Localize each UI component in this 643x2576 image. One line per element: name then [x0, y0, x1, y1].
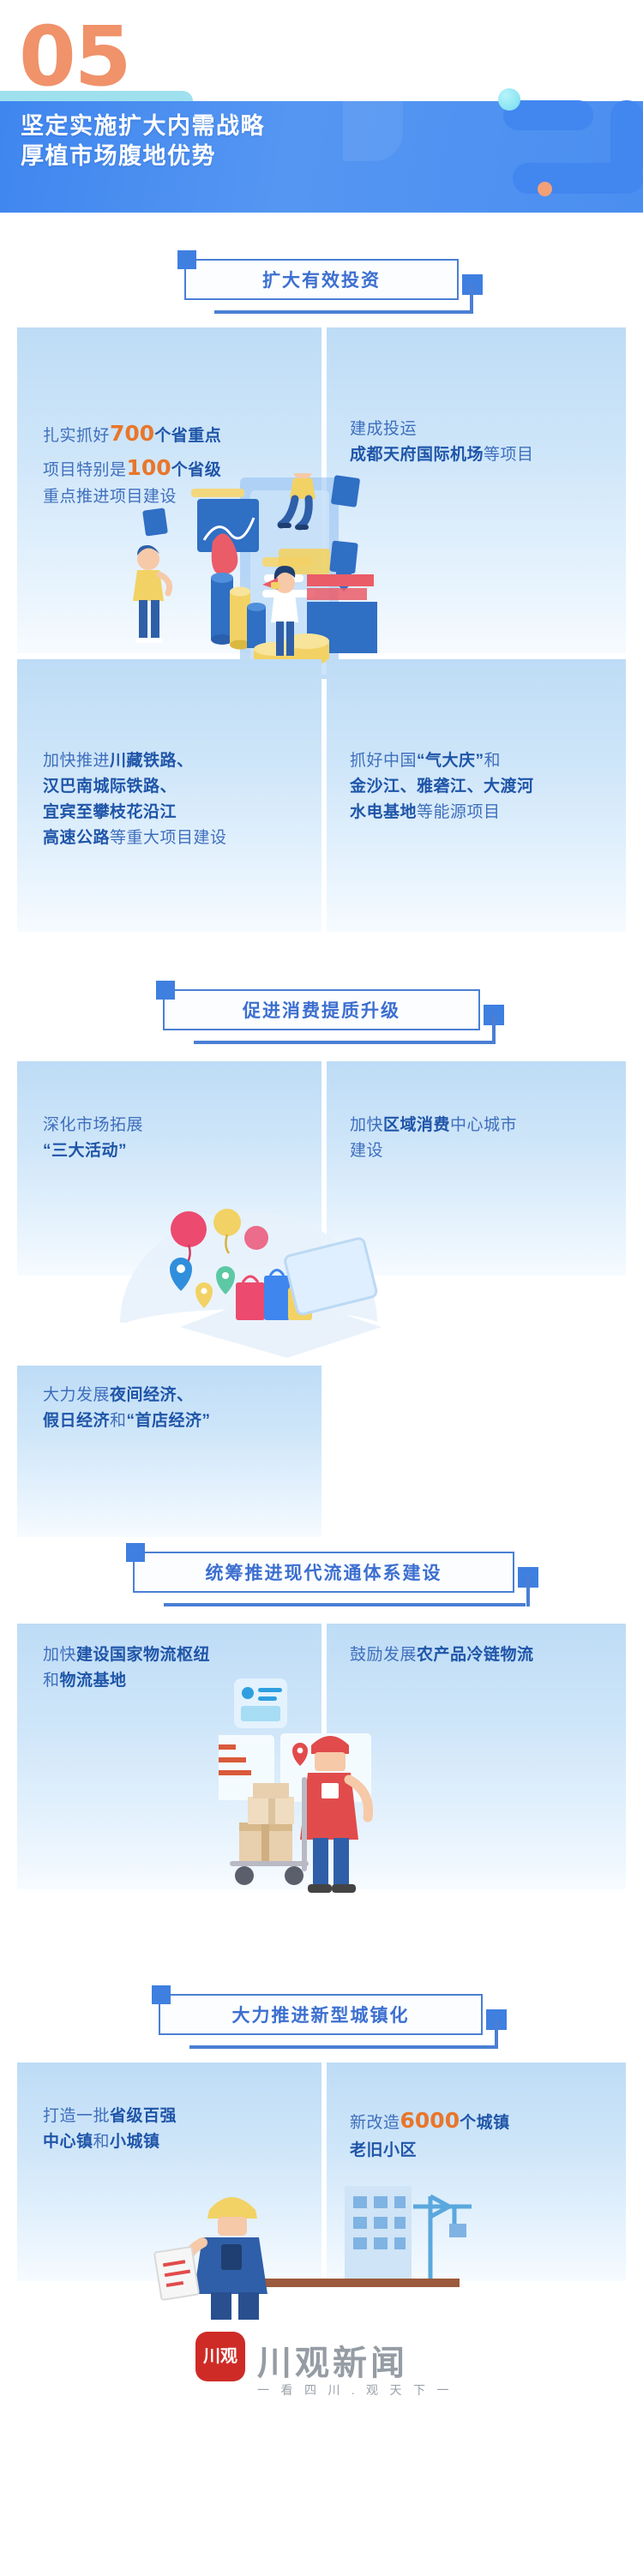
card-railways: 加快推进川藏铁路、汉巴南城际铁路、宜宾至攀枝花沿江高速公路等重大项目建设	[17, 659, 321, 932]
page-title-line-2: 厚植市场腹地优势	[21, 141, 569, 171]
section-number: 05	[19, 15, 130, 98]
section-square-topleft	[156, 981, 175, 1000]
section-header-label: 大力推进新型城镇化	[160, 1996, 481, 2033]
section-header-urbanization: 大力推进新型城镇化	[0, 1984, 643, 2063]
figure-inspector	[154, 2197, 267, 2320]
section-header-consumption: 促进消费提质升级	[0, 979, 643, 1061]
page-footer: 川观 川观新闻 一 看 四 川 . 观 天 下 一	[0, 2320, 643, 2431]
content-grid-logistics: 加快建设国家物流枢纽和物流基地 鼓励发展农产品冷链物流	[0, 1624, 643, 1984]
card-energy: 抓好中国“气大庆”和金沙江、雅砻江、大渡河水电基地等能源项目	[327, 659, 626, 932]
watermark-title: 川观新闻	[257, 2335, 408, 2385]
card-text: 打造一批省级百强中心镇和小城镇	[43, 2104, 317, 2155]
section-square-topleft	[152, 1985, 171, 2004]
section-header-box: 促进消费提质升级	[163, 989, 480, 1030]
publisher-logo-text: 川观	[203, 2348, 237, 2365]
section-header-label: 扩大有效投资	[186, 261, 457, 298]
consumption-illustration	[86, 1190, 446, 1361]
card-text: 加快区域消费中心城市建设	[350, 1113, 607, 1164]
watermark-tagline: 一 看 四 川 . 观 天 下 一	[257, 2381, 454, 2399]
page-title: 坚定实施扩大内需战略 厚植市场腹地优势	[21, 111, 569, 171]
section-shadow-vertical	[492, 1015, 496, 1044]
section-shadow-vertical	[526, 1577, 530, 1606]
page-header: 05 坚定实施扩大内需战略 厚植市场腹地优势	[0, 0, 643, 249]
card-text: 深化市场拓展“三大活动”	[43, 1113, 300, 1164]
deco-bar-bottom	[513, 163, 643, 194]
section-header-investment: 扩大有效投资	[0, 249, 643, 327]
deco-dot-aqua	[498, 88, 520, 111]
section-header-label: 促进消费提质升级	[165, 991, 478, 1029]
content-grid-investment: 扎实抓好700个省重点项目特别是100个省级重点推进项目建设 建成投运成都天府国…	[0, 327, 643, 979]
page-title-line-1: 坚定实施扩大内需战略	[21, 111, 569, 141]
card-text: 鼓励发展农产品冷链物流	[350, 1642, 633, 1668]
card-text: 新改造6000个城镇老旧小区	[350, 2104, 633, 2164]
publisher-logo: 川观	[195, 2332, 245, 2381]
deco-dot-orange	[538, 182, 552, 196]
card-night-economy: 大力发展夜间经济、假日经济和“首店经济”	[17, 1366, 321, 1537]
section-shadow-line	[194, 1041, 496, 1044]
card-text: 大力发展夜间经济、假日经济和“首店经济”	[43, 1383, 326, 1434]
section-header-box: 大力推进新型城镇化	[159, 1994, 483, 2035]
section-header-logistics: 统筹推进现代流通体系建设	[0, 1541, 643, 1624]
section-square-topleft	[126, 1543, 145, 1562]
section-shadow-line	[214, 310, 473, 314]
section-shadow-vertical	[495, 2020, 498, 2049]
section-header-label: 统筹推进现代流通体系建设	[135, 1553, 513, 1591]
section-shadow-line	[164, 1603, 526, 1606]
section-shadow-vertical	[470, 285, 473, 314]
figure-left	[133, 545, 170, 643]
logistics-illustration	[219, 1678, 476, 1936]
content-grid-consumption: 深化市场拓展“三大活动” 加快区域消费中心城市建设	[0, 1061, 643, 1541]
card-text: 加快推进川藏铁路、汉巴南城际铁路、宜宾至攀枝花沿江高速公路等重大项目建设	[43, 748, 317, 851]
card-text: 建成投运成都天府国际机场等项目	[350, 417, 616, 468]
header-decoration	[506, 81, 643, 214]
section-header-box: 统筹推进现代流通体系建设	[133, 1552, 514, 1593]
section-shadow-line	[189, 2045, 495, 2049]
card-text: 抓好中国“气大庆”和金沙江、雅砻江、大渡河水电基地等能源项目	[350, 748, 624, 826]
urbanization-illustration	[94, 2157, 549, 2320]
section-square-topleft	[177, 250, 196, 269]
content-grid-urbanization: 打造一批省级百强中心镇和小城镇 新改造6000个城镇老旧小区	[0, 2063, 643, 2320]
section-header-box: 扩大有效投资	[184, 259, 459, 300]
